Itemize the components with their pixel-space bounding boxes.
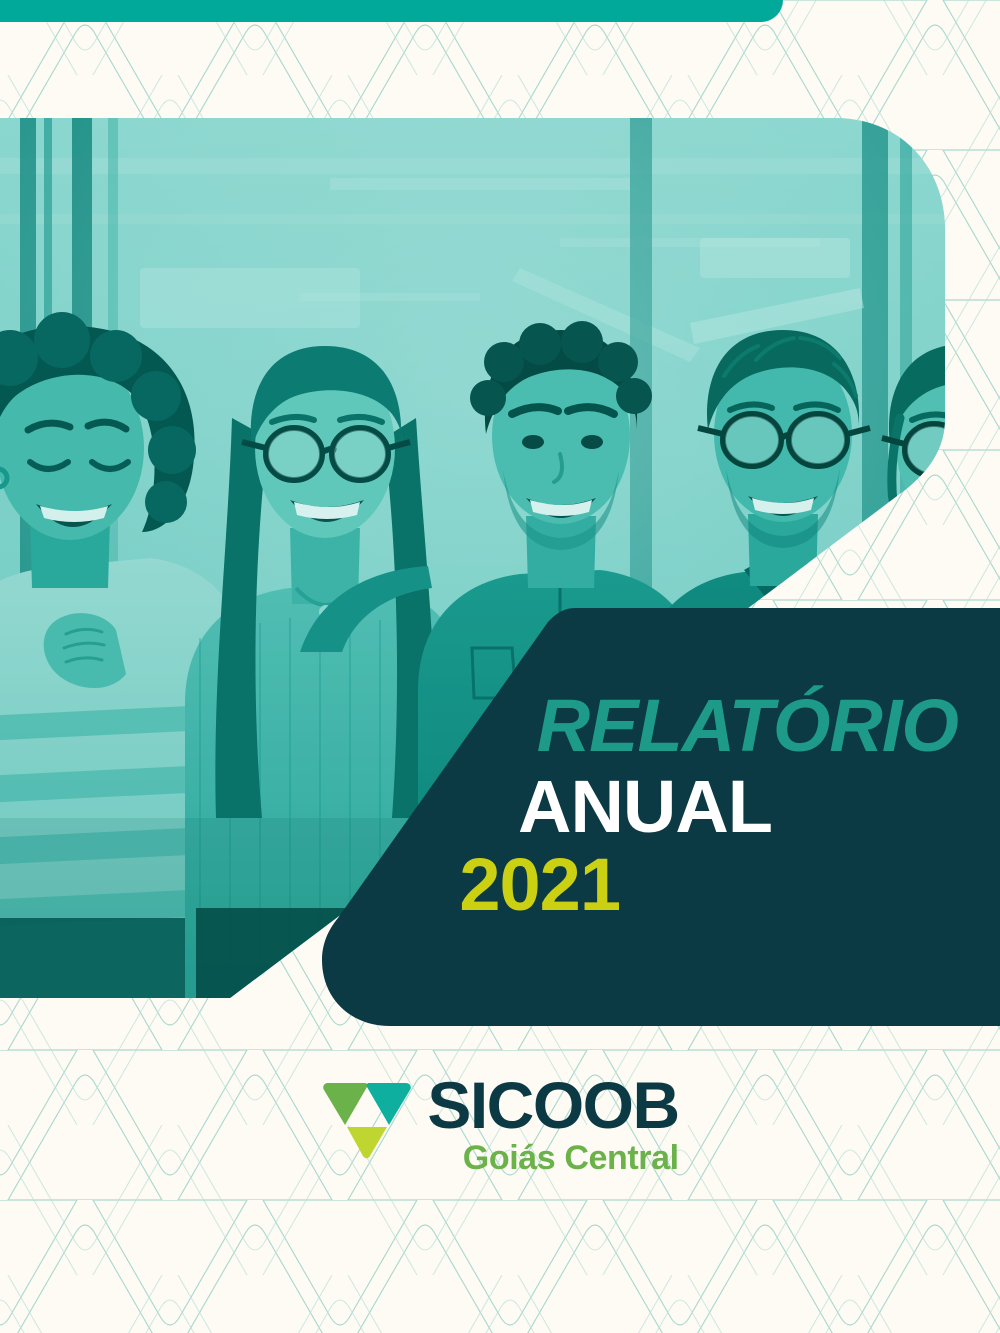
title-line-year: 2021 (0, 849, 958, 922)
cover-title: RELATÓRIO ANUAL 2021 (0, 608, 1000, 1026)
sicoob-triangle-logo-icon (321, 1079, 413, 1161)
brand-subtitle: Goiás Central (463, 1141, 679, 1175)
brand-lockup: SICOOB Goiás Central (0, 1075, 1000, 1175)
top-accent-bar (0, 0, 783, 22)
title-line-relatorio: RELATÓRIO (0, 690, 958, 763)
report-cover-page: RELATÓRIO ANUAL 2021 SICOOB Goiás Centra… (0, 0, 1000, 1333)
brand-name: SICOOB (427, 1075, 678, 1136)
title-line-anual: ANUAL (0, 771, 958, 844)
